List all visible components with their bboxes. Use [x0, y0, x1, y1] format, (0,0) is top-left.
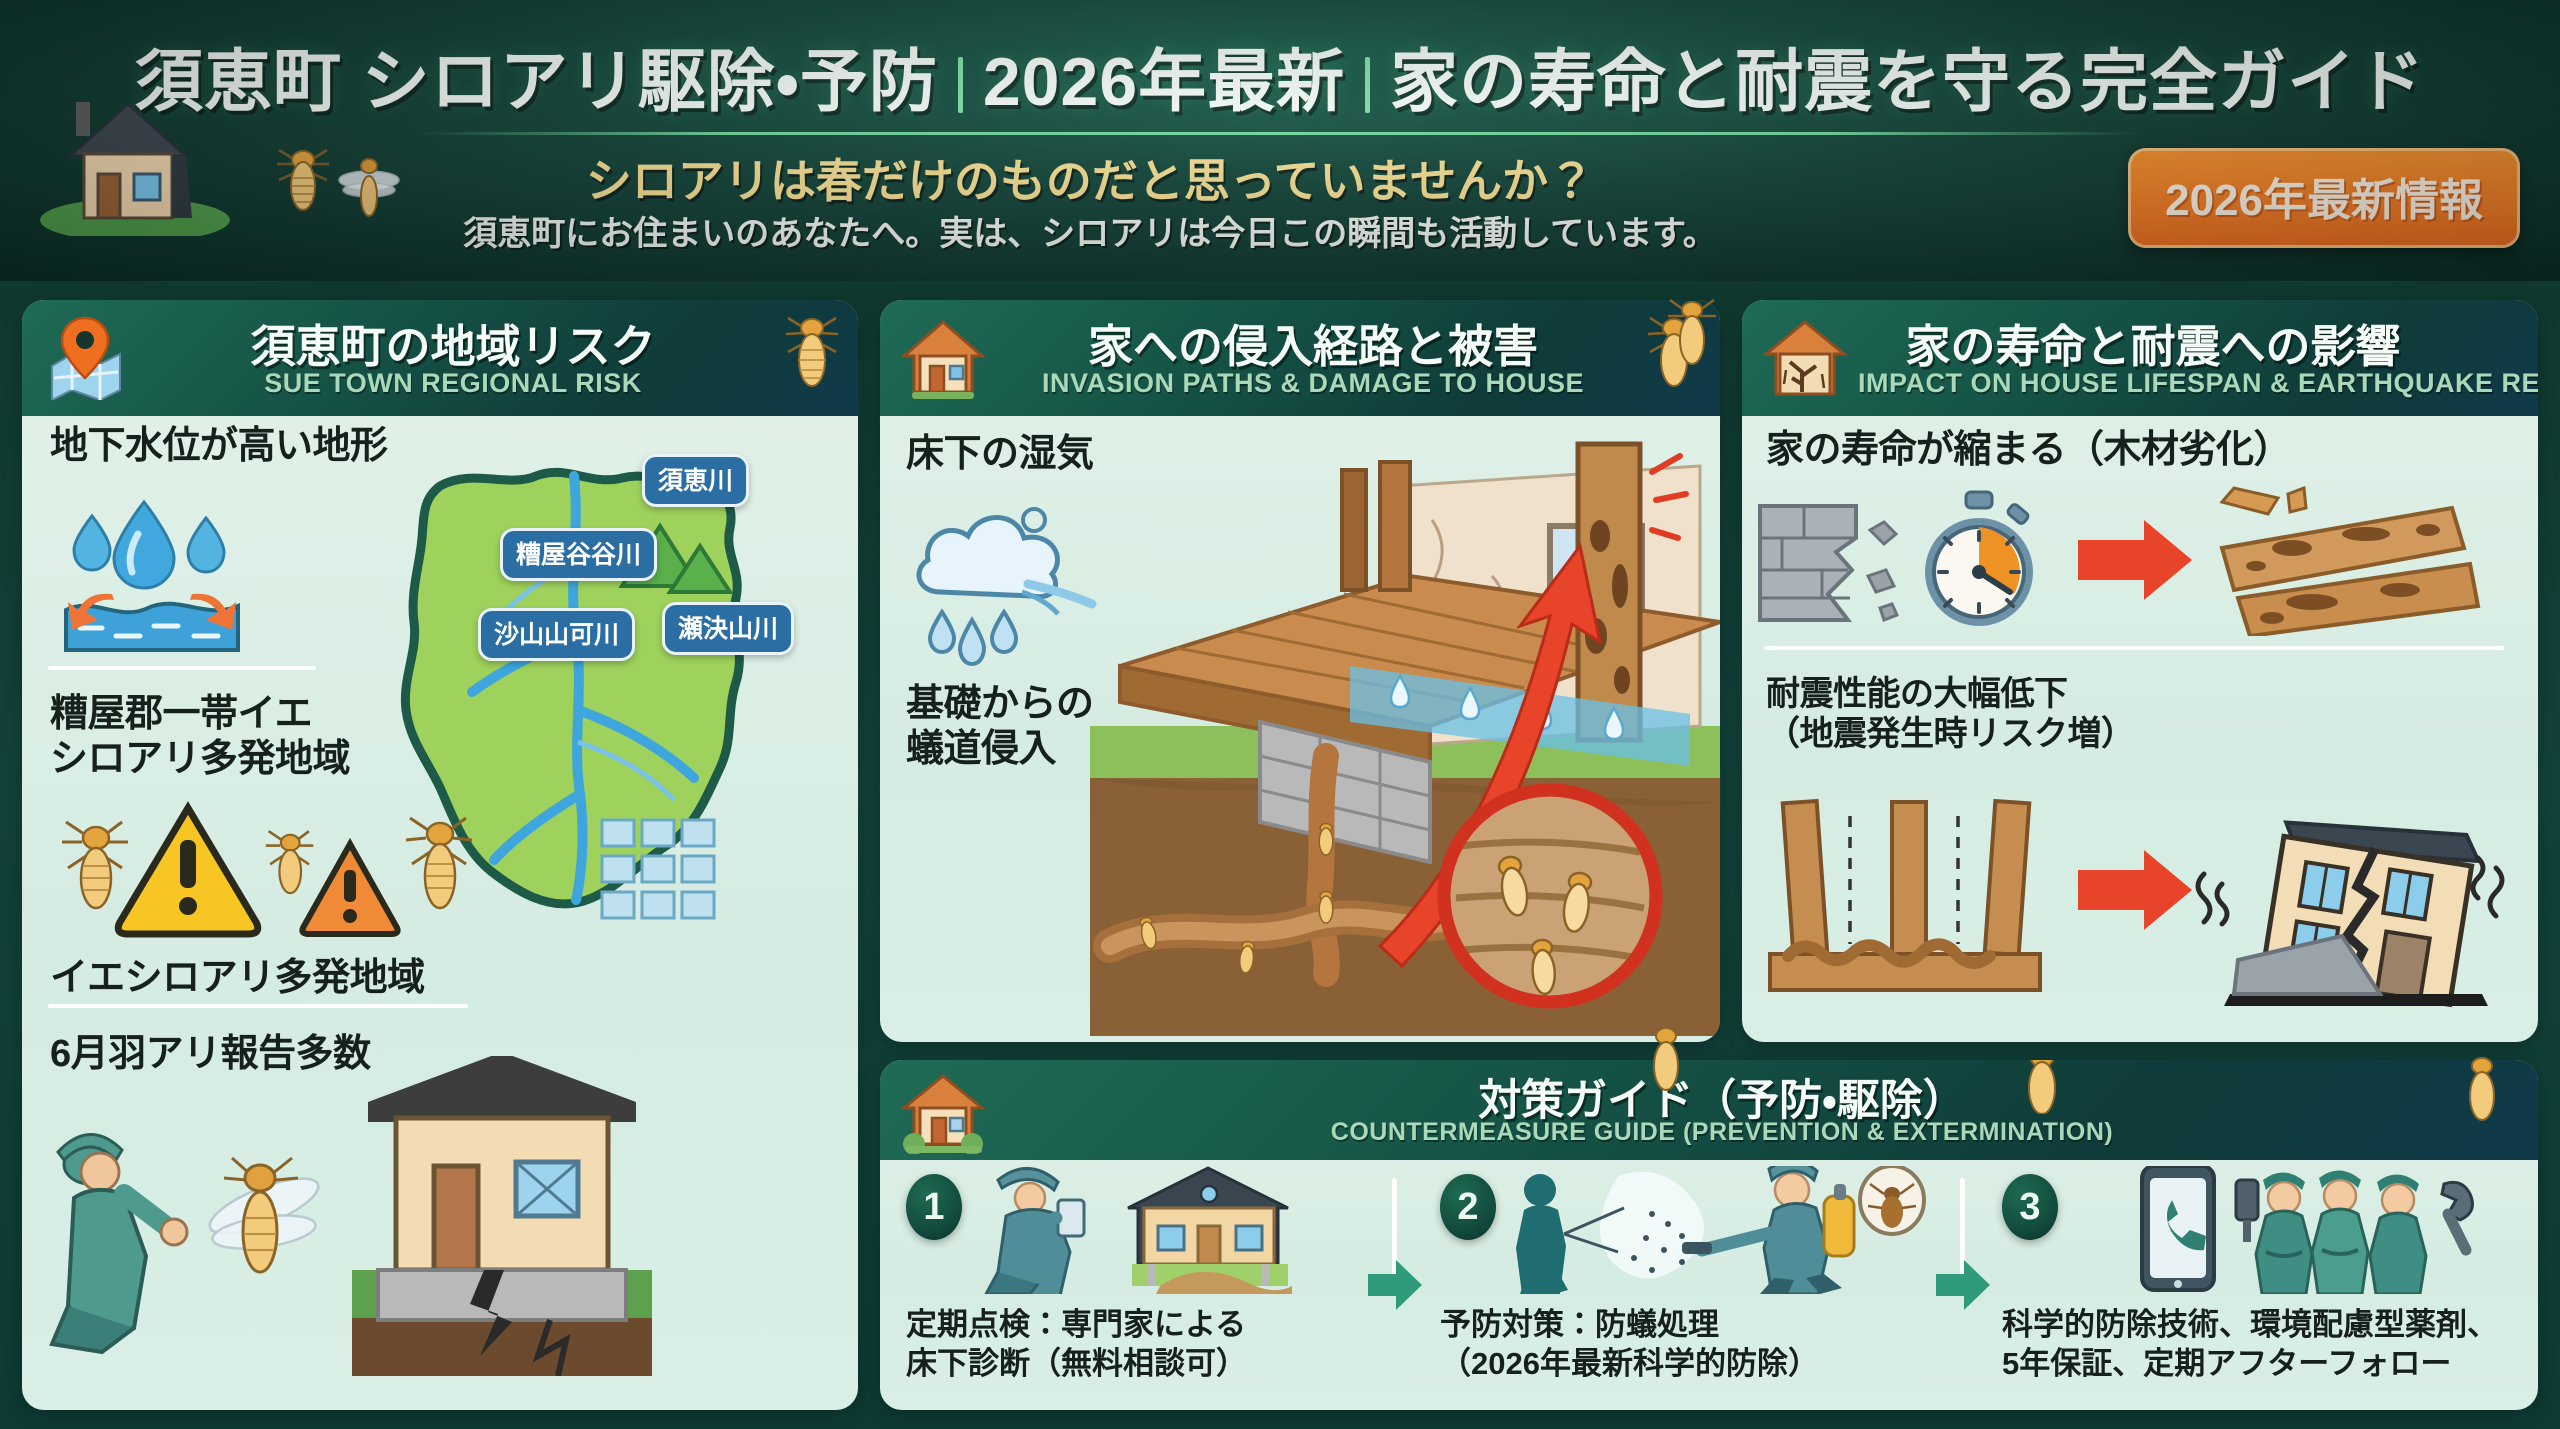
panel-title: 家の寿命と耐震への影響 — [1858, 310, 2448, 375]
cracked-house-icon — [1762, 314, 1848, 400]
label-lifespan-shortened: 家の寿命が縮まる（木材劣化） — [1766, 428, 2291, 473]
label-line-1: 糟屋郡一帯イエ — [50, 692, 350, 737]
phone-staff-icon — [2068, 1166, 2498, 1294]
label-june-swarmers: 6月羽アリ報告多数 — [50, 1032, 371, 1077]
label-seismic-degradation: 耐震性能の大幅低下 （地震発生時リスク増） — [1766, 674, 2135, 754]
lifespan-figure-row — [1752, 486, 2532, 636]
panel-header-regional-risk: 須恵町の地域リスク SUE TOWN REGIONAL RISK — [22, 300, 858, 416]
panel-title: 須恵町の地域リスク — [138, 310, 768, 375]
panel-header-invasion-paths: 家への侵入経路と被害 INVASION PATHS & DAMAGE TO HO… — [880, 300, 1720, 416]
house-icon — [900, 1068, 986, 1154]
termite-icon — [776, 308, 848, 394]
warning-triangle-icon — [48, 794, 488, 954]
title-divider — [958, 57, 963, 113]
step-number: 1 — [906, 1174, 962, 1240]
header-lead-text: 須恵町にお住まいのあなたへ。実は、シロアリは今日この瞬間も活動しています。 — [380, 206, 1800, 255]
map-pin-icon — [42, 314, 128, 400]
arrow-right-icon — [2078, 850, 2192, 930]
panel-subtitle-en: COUNTERMEASURE GUIDE (PREVENTION & EXTER… — [996, 1118, 2448, 1147]
house-icon — [900, 314, 986, 400]
panel-countermeasure-guide: 対策ガイド（予防・駆除） COUNTERMEASURE GUIDE (PREVE… — [880, 1060, 2538, 1410]
title-segment-1: 須恵町 シロアリ駆除・予防 — [135, 44, 938, 120]
label-line-1: 耐震性能の大幅低下 — [1766, 674, 2135, 714]
divider — [48, 666, 316, 670]
step-3[interactable]: 3 — [1998, 1160, 2518, 1410]
panel-body-regional-risk: 地下水位が高い地形 — [22, 416, 858, 1410]
arrow-right-icon — [2078, 520, 2192, 600]
panel-lifespan-impact: 家の寿命と耐震への影響 IMPACT ON HOUSE LIFESPAN & E… — [1742, 300, 2538, 1042]
step-caption: 定期点検：専門家による 床下診断（無料相談可） — [906, 1306, 1247, 1384]
title-divider — [1365, 57, 1370, 113]
panel-header-lifespan-impact: 家の寿命と耐震への影響 IMPACT ON HOUSE LIFESPAN & E… — [1742, 300, 2538, 416]
panel-body-countermeasure-guide: 1 — [880, 1160, 2538, 1410]
label-line-2: シロアリ多発地域 — [50, 737, 350, 782]
house-cutaway-icon — [1080, 426, 1720, 1036]
panel-header-countermeasure-guide: 対策ガイド（予防・駆除） COUNTERMEASURE GUIDE (PREVE… — [880, 1060, 2538, 1160]
cracked-house-icon — [352, 1056, 652, 1376]
eaten-timber-icon — [2222, 488, 2478, 636]
header-rule — [420, 132, 2140, 135]
map-label-river-1[interactable]: 須恵川 — [642, 454, 749, 507]
map-label-river-3[interactable]: 沙山山可川 — [478, 608, 635, 661]
status-badge[interactable]: 2026年最新情報 — [2128, 148, 2520, 248]
panel-subtitle-en: SUE TOWN REGIONAL RISK — [138, 368, 768, 399]
step-1[interactable]: 1 — [902, 1160, 1372, 1410]
label-foundation-mudtube: 基礎からの 蟻道侵入 — [906, 682, 1094, 772]
spray-treatment-icon — [1506, 1166, 1926, 1294]
winged-termite-inspection-icon — [38, 1106, 338, 1366]
step-number: 2 — [1440, 1174, 1496, 1240]
title-segment-3: 家の寿命と耐震を守る完全ガイド — [1390, 44, 2425, 120]
step-number: 3 — [2002, 1174, 2058, 1240]
divider — [48, 1004, 468, 1008]
map-label-river-4[interactable]: 瀬決山川 — [662, 602, 794, 655]
termite-icon — [1638, 308, 1710, 394]
page-title: 須恵町 シロアリ駆除・予防2026年最新家の寿命と耐震を守る完全ガイド — [0, 26, 2560, 125]
step-2[interactable]: 2 — [1436, 1160, 1936, 1410]
panel-invasion-paths: 家への侵入経路と被害 INVASION PATHS & DAMAGE TO HO… — [880, 300, 1720, 1042]
map-label-river-2[interactable]: 糟屋谷谷川 — [500, 528, 657, 581]
step-caption: 予防対策：防蟻処理 （2026年最新科学的防除） — [1440, 1306, 1819, 1384]
label-iesiroari-area: イエシロアリ多発地域 — [50, 956, 425, 1001]
label-line-2: （地震発生時リスク増） — [1766, 714, 2135, 754]
tilting-house-icon — [2198, 807, 2502, 1006]
crumbling-wall-icon — [1760, 506, 1897, 620]
inspector-house-icon — [972, 1166, 1352, 1294]
panel-body-lifespan-impact: 家の寿命が縮まる（木材劣化） — [1742, 416, 2538, 1042]
panel-subtitle-en: INVASION PATHS & DAMAGE TO HOUSE — [996, 368, 1630, 399]
label-line-2: 蟻道侵入 — [906, 727, 1094, 772]
arrow-right-icon — [1934, 1256, 1992, 1314]
label-line-1: 基礎からの — [906, 682, 1094, 727]
termite-icon — [2006, 1060, 2078, 1114]
infographic-root: 須恵町 シロアリ駆除・予防2026年最新家の寿命と耐震を守る完全ガイド シロアリ… — [0, 0, 2560, 1429]
arrow-right-icon — [1366, 1256, 1424, 1314]
panel-body-invasion-paths: 床下の湿気 — [880, 416, 1720, 1042]
water-table-icon — [58, 488, 328, 656]
panel-title: 家への侵入経路と被害 — [996, 310, 1630, 375]
title-segment-2: 2026年最新 — [983, 44, 1345, 120]
divider — [1764, 646, 2504, 650]
panel-regional-risk: 須恵町の地域リスク SUE TOWN REGIONAL RISK 地下水位が高い… — [22, 300, 858, 1410]
label-kasuya-district: 糟屋郡一帯イエ シロアリ多発地域 — [50, 692, 350, 782]
seismic-figure-row — [1752, 798, 2532, 1018]
panel-subtitle-en: IMPACT ON HOUSE LIFESPAN & EARTHQUAKE RE… — [1858, 368, 2448, 399]
label-underfloor-moisture: 床下の湿気 — [906, 432, 1094, 477]
step-caption: 科学的防除技術、環境配慮型薬剤、 5年保証、定期アフターフォロー — [2002, 1306, 2498, 1384]
weak-pillars-icon — [1770, 801, 2040, 990]
header-banner: 須恵町 シロアリ駆除・予防2026年最新家の寿命と耐震を守る完全ガイド シロアリ… — [0, 0, 2560, 281]
header-subtitle: シロアリは春だけのものだと思っていませんか？ — [380, 145, 1800, 211]
stopwatch-icon — [1925, 492, 2033, 626]
